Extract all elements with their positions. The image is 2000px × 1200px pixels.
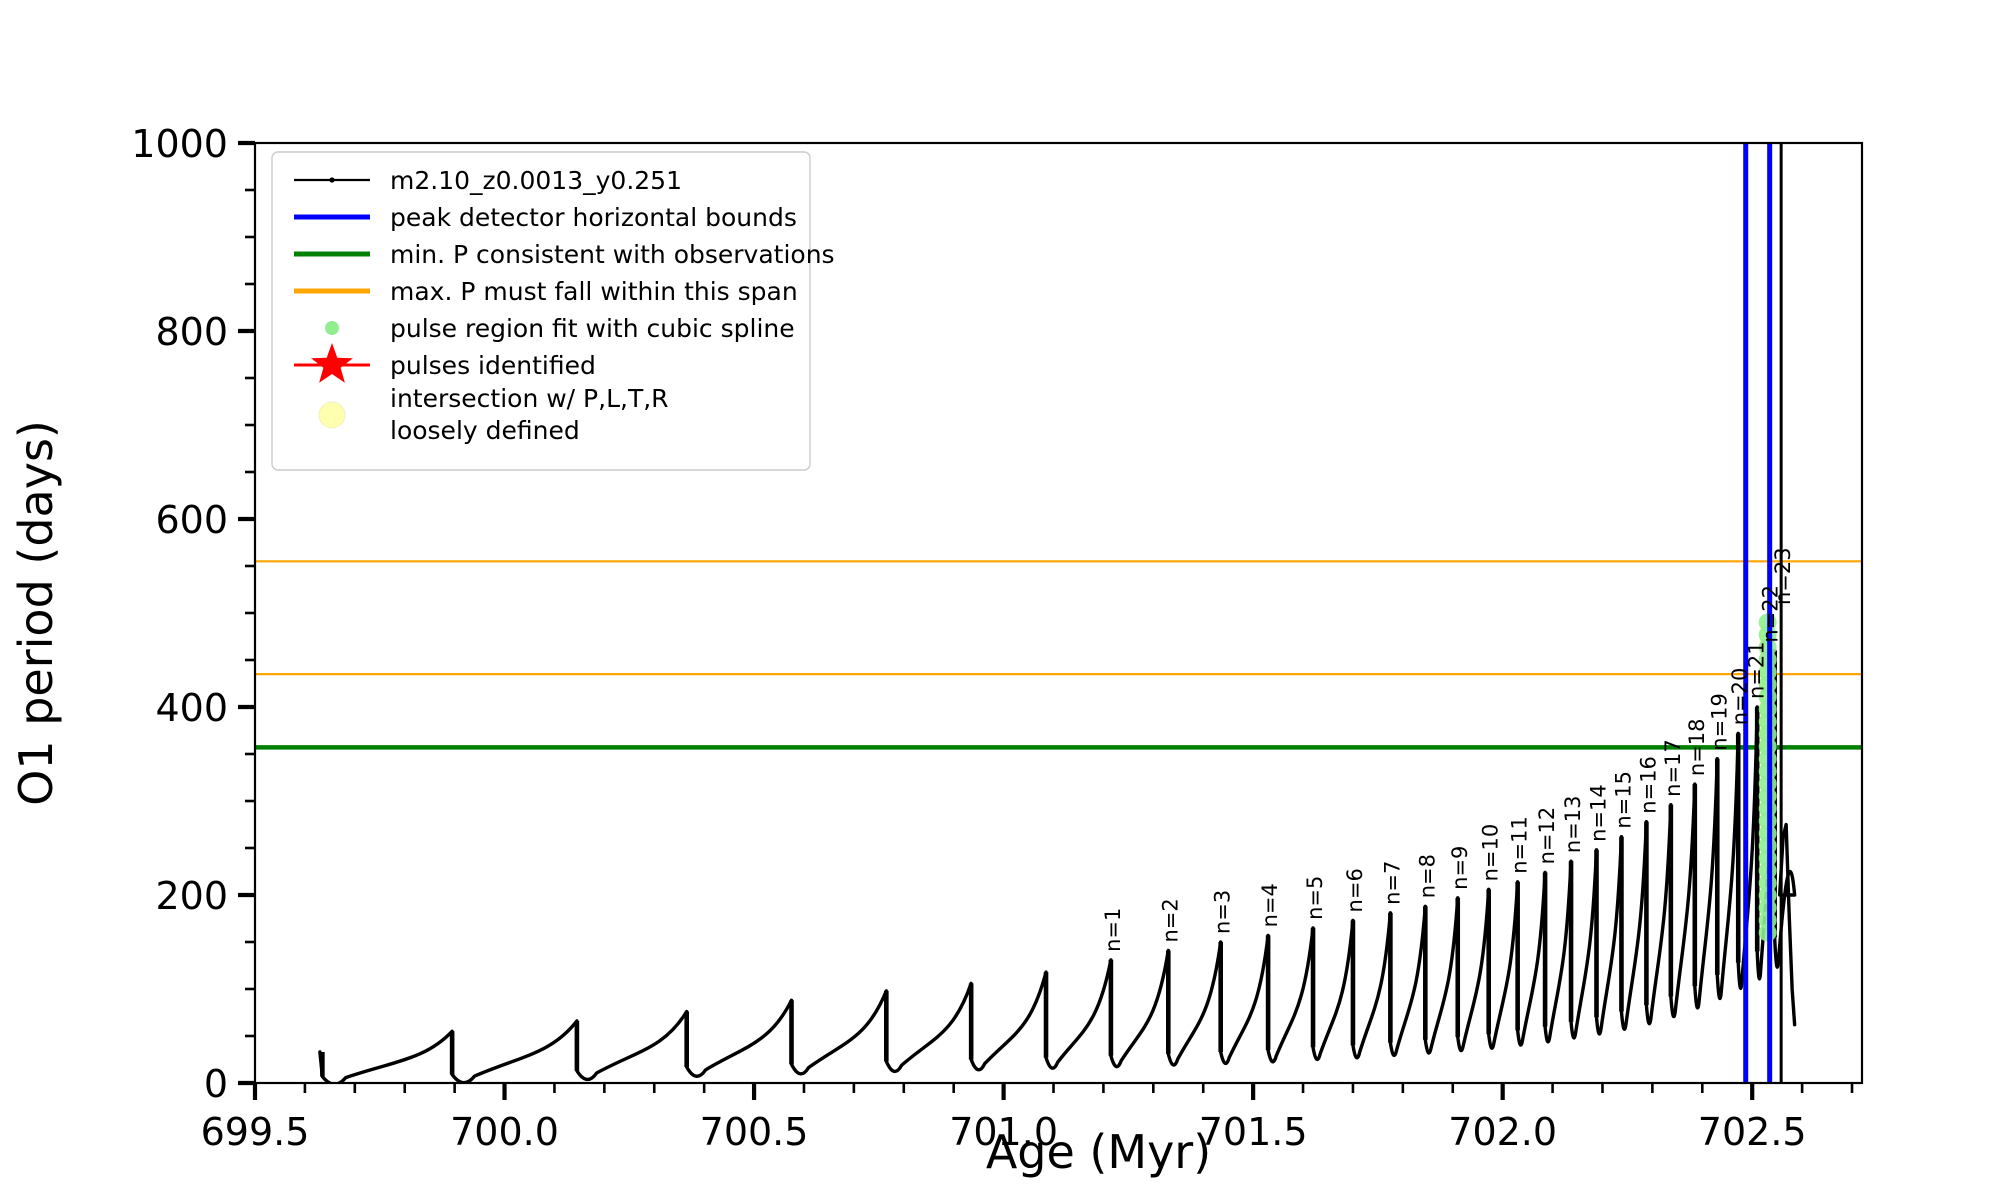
pulse-label-n9: n=9 — [1448, 846, 1472, 890]
pulse-label-n18: n=18 — [1685, 718, 1709, 776]
pulse-label-n14: n=14 — [1586, 784, 1610, 842]
legend-label: min. P consistent with observations — [390, 240, 835, 269]
legend-swatch-marker — [329, 177, 334, 182]
legend-label-line2: loosely defined — [390, 416, 580, 445]
pulse-label-n11: n=11 — [1508, 816, 1532, 874]
xtick-label: 702.0 — [1448, 1110, 1557, 1154]
pulse-label-n17: n=17 — [1661, 739, 1685, 797]
pulse-label-n1: n=1 — [1101, 908, 1125, 952]
pulse-label-n15: n=15 — [1611, 771, 1635, 829]
ytick-label: 200 — [155, 874, 228, 918]
xtick-label: 702.5 — [1698, 1110, 1807, 1154]
legend-label: pulse region fit with cubic spline — [390, 314, 795, 343]
pulse-label-n10: n=10 — [1479, 824, 1503, 882]
pulse-label-n7: n=7 — [1380, 861, 1404, 905]
pulse-label-n13: n=13 — [1561, 796, 1585, 854]
pulse-label-n6: n=6 — [1343, 868, 1367, 912]
legend-label: max. P must fall within this span — [390, 277, 798, 306]
plot-figure: n=1n=2n=3n=4n=5n=6n=7n=8n=9n=10n=11n=12n… — [0, 0, 2000, 1200]
pulse-label-n8: n=8 — [1415, 854, 1439, 898]
xtick-label: 700.0 — [450, 1110, 559, 1154]
ytick-label: 0 — [204, 1062, 228, 1106]
y-axis-label: O1 period (days) — [9, 420, 63, 806]
xtick-label: 699.5 — [201, 1110, 310, 1154]
pulse-label-n12: n=12 — [1535, 807, 1559, 865]
figure-root: n=1n=2n=3n=4n=5n=6n=7n=8n=9n=10n=11n=12n… — [0, 0, 2000, 1200]
legend-swatch-dot-large — [319, 402, 345, 428]
legend-swatch-dot — [325, 321, 339, 335]
ytick-label: 600 — [155, 498, 228, 542]
pulse-label-n2: n=2 — [1158, 898, 1182, 942]
legend-label: intersection w/ P,L,T,R — [390, 384, 669, 413]
ytick-label: 1000 — [131, 122, 228, 166]
xtick-label: 700.5 — [700, 1110, 809, 1154]
legend-entry-4[interactable]: pulse region fit with cubic spline — [325, 314, 795, 343]
legend-label: peak detector horizontal bounds — [390, 203, 797, 232]
xtick-label: 701.5 — [1199, 1110, 1308, 1154]
legend[interactable]: m2.10_z0.0013_y0.251peak detector horizo… — [272, 152, 835, 470]
ytick-label: 400 — [155, 686, 228, 730]
pulse-label-n5: n=5 — [1303, 876, 1327, 920]
pulse-label-n3: n=3 — [1211, 890, 1235, 934]
legend-label: m2.10_z0.0013_y0.251 — [390, 166, 682, 195]
pulse-label-n21: n=21 — [1745, 641, 1769, 699]
pulse-label-n23: n=23 — [1771, 547, 1795, 605]
legend-label: pulses identified — [390, 351, 596, 380]
x-axis-label: Age (Myr) — [986, 1125, 1211, 1179]
ytick-label: 800 — [155, 310, 228, 354]
pulse-label-n4: n=4 — [1258, 883, 1282, 927]
pulse-label-n16: n=16 — [1636, 756, 1660, 814]
